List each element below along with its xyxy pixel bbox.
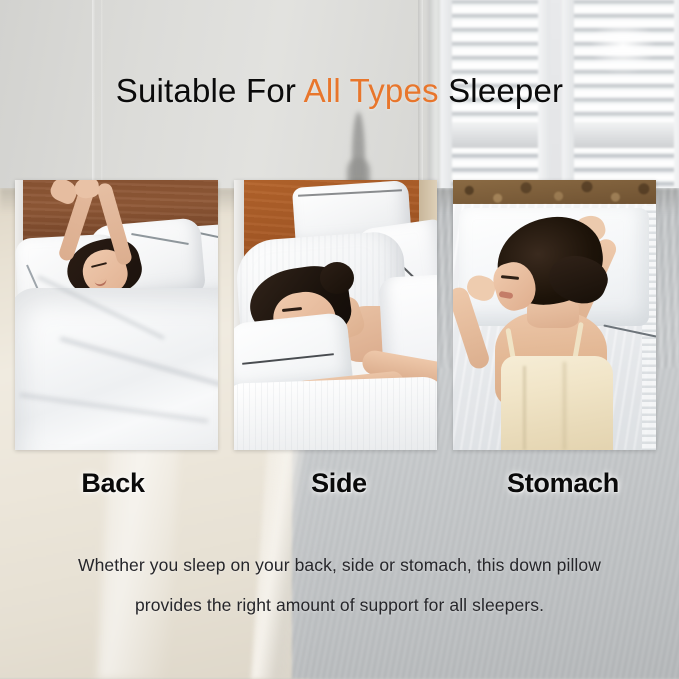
page-title: Suitable For All Types Sleeper (0, 73, 679, 109)
fabric-fold (523, 366, 526, 450)
sheet-stripe-texture (234, 376, 437, 450)
caption-text: Whether you sleep on your back, side or … (0, 545, 679, 625)
title-part-2: Sleeper (439, 72, 564, 109)
sleeper-photo-row (15, 180, 664, 450)
label-stomach: Stomach (450, 466, 676, 500)
sleeper-label-row: Back Side Stomach (0, 466, 679, 508)
white-duvet (15, 288, 218, 450)
photo-panel-stomach (453, 180, 656, 450)
duvet-crease (20, 393, 209, 423)
photo-panel-back (15, 180, 218, 450)
photo-panel-side (234, 180, 437, 450)
fabric-fold (563, 362, 566, 450)
rug-texture (453, 180, 656, 206)
title-highlight: All Types (304, 72, 439, 109)
bed-sheet (234, 376, 437, 450)
shutter-rail (440, 122, 550, 148)
model-hair-bun (320, 262, 354, 294)
brown-rug (453, 180, 656, 206)
product-infographic: Suitable For All Types Sleeper (0, 0, 679, 679)
window-light-glow (590, 16, 656, 76)
caption-line-1: Whether you sleep on your back, side or … (0, 545, 679, 585)
shutter-rail (562, 122, 679, 148)
duvet-crease (60, 337, 218, 388)
label-side: Side (226, 466, 452, 500)
label-back: Back (0, 466, 226, 500)
caption-line-2: provides the right amount of support for… (0, 585, 679, 625)
cream-camisole (501, 356, 613, 450)
title-part-1: Suitable For (116, 72, 304, 109)
